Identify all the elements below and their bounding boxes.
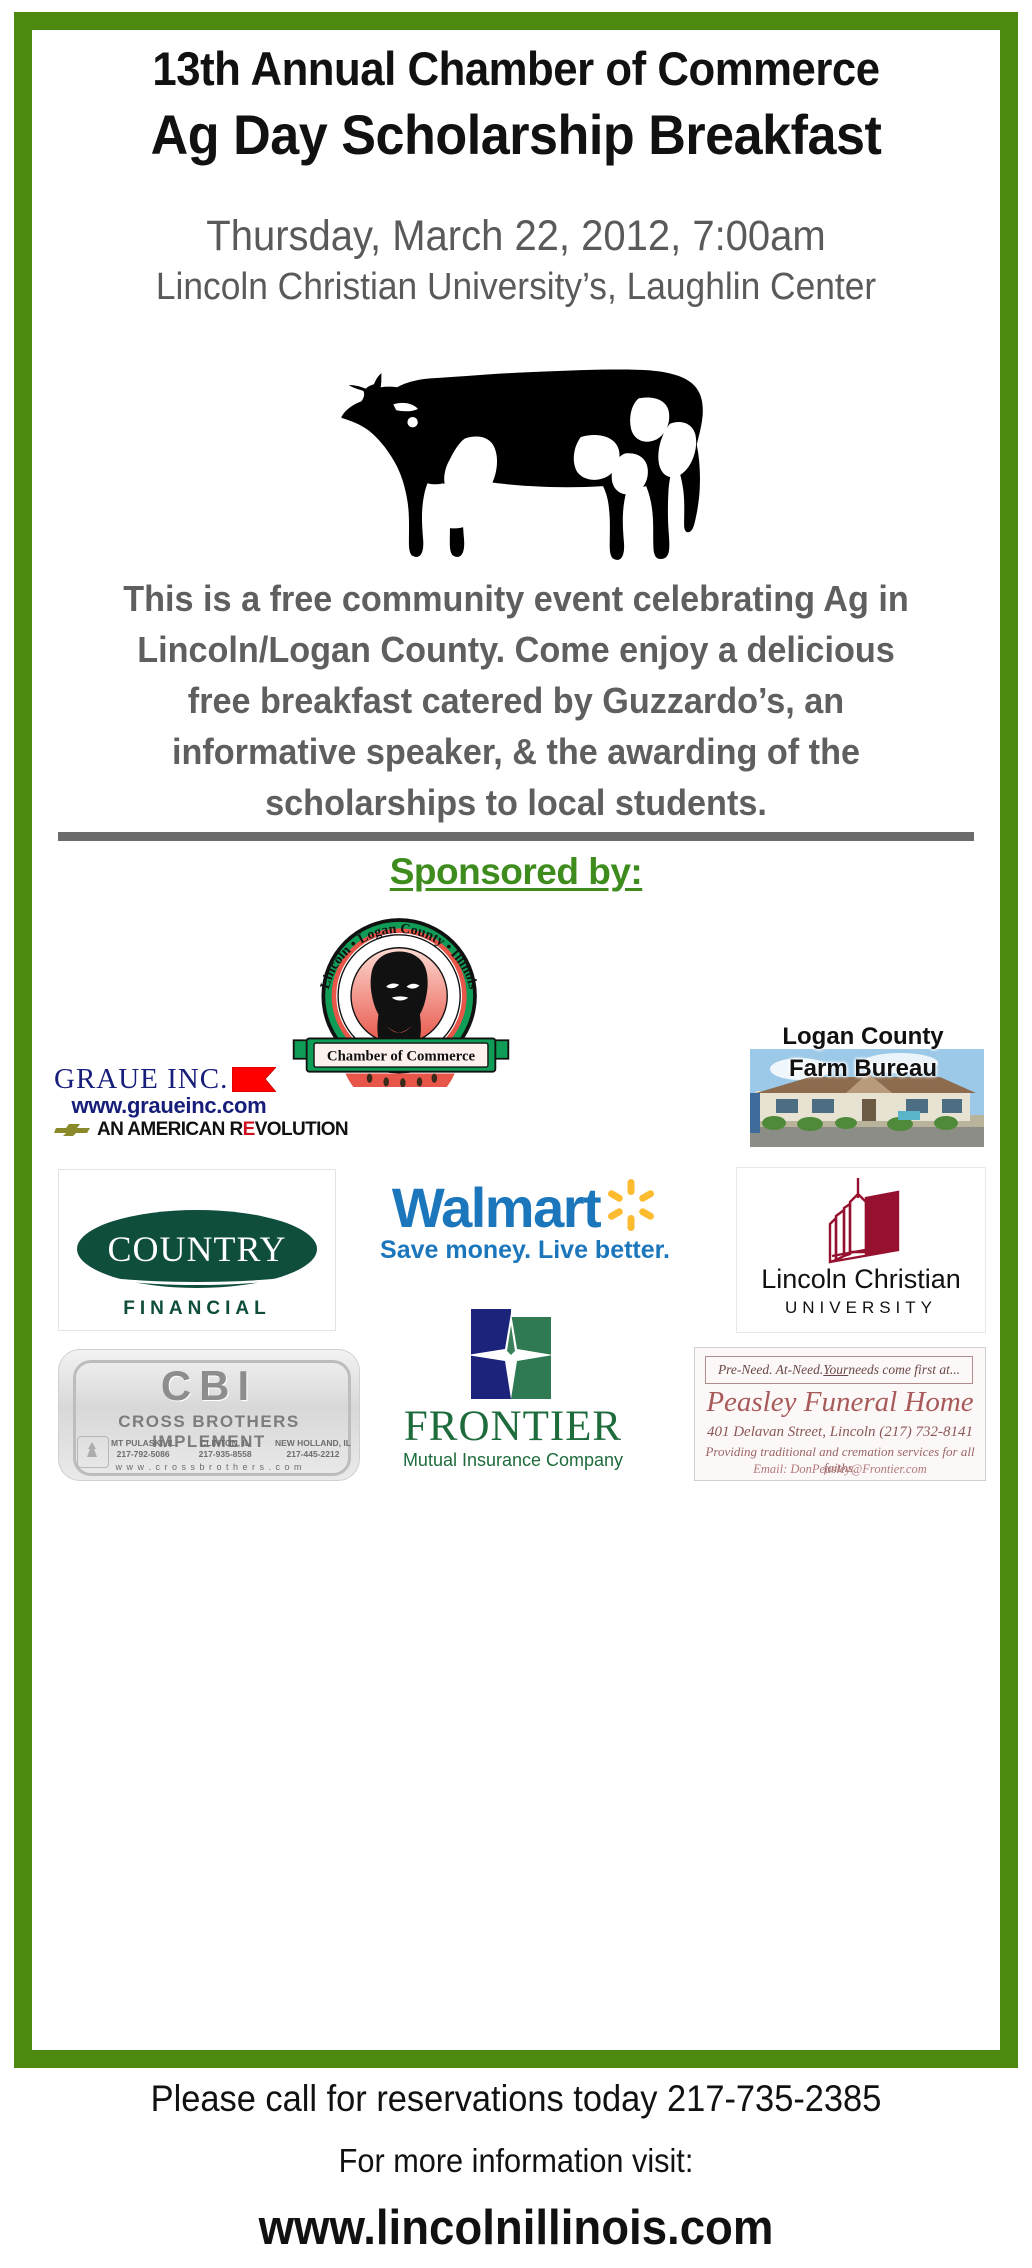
cbi-location-phone: 217-935-8558 bbox=[199, 1449, 252, 1460]
frontier-subtext: Mutual Insurance Company bbox=[384, 1450, 642, 1471]
peasley-banner-underlined: Your bbox=[823, 1362, 848, 1378]
sponsored-by-heading: Sponsored by: bbox=[54, 851, 978, 893]
peasley-banner: Pre-Need. At-Need. Your needs come first… bbox=[705, 1356, 973, 1384]
sponsor-logo-walmart: Walmart bbox=[350, 1175, 700, 1285]
peasley-email: Email: DonPeasley@Frontier.com bbox=[695, 1462, 985, 1477]
peasley-address: 401 Delavan Street, Lincoln (217) 732-81… bbox=[695, 1424, 985, 1441]
website-line[interactable]: www.lincolnillinois.com bbox=[36, 2200, 996, 2256]
farm-bureau-line-2: Farm Bureau bbox=[742, 1053, 984, 1085]
sponsor-logo-graue-inc: GRAUE INC. www.graueinc.com AN AMERIC bbox=[54, 1063, 284, 1141]
headline-line-2: Ag Day Scholarship Breakfast bbox=[86, 105, 945, 165]
cbi-location-phone: 217-792-5086 bbox=[111, 1449, 175, 1460]
cbi-location-city: MT PULASKI, IL bbox=[111, 1438, 175, 1449]
cow-illustration-wrap bbox=[54, 327, 978, 565]
sponsor-logo-chamber-of-commerce: Lincoln • Logan County • Illinois Chambe… bbox=[290, 901, 512, 1087]
cbi-location-item: CLINTON, IL 217-935-8558 bbox=[199, 1438, 252, 1460]
peasley-banner-pre: Pre-Need. At-Need. bbox=[718, 1362, 823, 1378]
chevrolet-bowtie-icon bbox=[54, 1123, 92, 1137]
frontier-wordmark: FRONTIER bbox=[384, 1405, 642, 1448]
graue-name: GRAUE INC. bbox=[54, 1063, 228, 1096]
sponsor-logo-country-financial: COUNTRY FINANCIAL bbox=[58, 1169, 336, 1331]
walmart-tagline: Save money. Live better. bbox=[350, 1236, 700, 1265]
country-financial-subtext: FINANCIAL bbox=[59, 1298, 335, 1320]
cbi-locations: MT PULASKI, IL 217-792-5086 CLINTON, IL … bbox=[111, 1438, 351, 1460]
section-divider bbox=[58, 832, 974, 841]
cbi-location-city: CLINTON, IL bbox=[199, 1438, 252, 1449]
chamber-seal-icon: Lincoln • Logan County • Illinois Chambe… bbox=[290, 901, 512, 1087]
event-venue: Lincoln Christian University’s, Laughlin… bbox=[86, 266, 945, 309]
reservations-line: Please call for reservations today 217-7… bbox=[36, 2078, 996, 2120]
chamber-banner-text: Chamber of Commerce bbox=[327, 1049, 476, 1065]
headline-line-1: 13th Annual Chamber of Commerce bbox=[86, 44, 945, 93]
cbi-location-item: MT PULASKI, IL 217-792-5086 bbox=[111, 1438, 175, 1460]
walmart-title-row: Walmart bbox=[350, 1175, 700, 1240]
more-info-line: For more information visit: bbox=[36, 2142, 996, 2180]
graue-tagline-row: AN AMERICAN REVOLUTION bbox=[54, 1119, 284, 1141]
sponsor-logo-lincoln-christian-university: Lincoln Christian UNIVERSITY bbox=[736, 1167, 986, 1333]
event-description: This is a free community event celebrati… bbox=[77, 573, 955, 829]
graue-title-row: GRAUE INC. bbox=[54, 1063, 284, 1096]
sponsor-logo-cross-brothers-implement: CBI CROSS BROTHERS IMPLEMENT MT PULASKI,… bbox=[58, 1349, 360, 1481]
graue-website: www.graueinc.com bbox=[54, 1093, 284, 1119]
lcu-name: Lincoln Christian bbox=[737, 1264, 985, 1295]
poster-footer: Please call for reservations today 217-7… bbox=[0, 2078, 1032, 2256]
walmart-spark-icon bbox=[604, 1178, 658, 1237]
sponsor-logo-peasley-funeral-home: Pre-Need. At-Need. Your needs come first… bbox=[694, 1347, 986, 1481]
peasley-name: Peasley Funeral Home bbox=[695, 1386, 985, 1419]
cbi-website: w w w . c r o s s b r o t h e r s . c o … bbox=[59, 1462, 359, 1472]
cbi-wordmark: CBI bbox=[59, 1362, 359, 1410]
country-swoosh-icon bbox=[85, 1256, 309, 1285]
graue-flag-icon bbox=[232, 1067, 276, 1092]
farm-bureau-line-1: Logan County bbox=[742, 1021, 984, 1053]
cow-icon bbox=[306, 327, 726, 565]
walmart-wordmark: Walmart bbox=[392, 1175, 600, 1240]
cbi-location-city: NEW HOLLAND, IL bbox=[275, 1438, 351, 1449]
cbi-location-item: NEW HOLLAND, IL 217-445-2212 bbox=[275, 1438, 351, 1460]
sponsor-logo-frontier-mutual-insurance: FRONTIER Mutual Insurance Company bbox=[384, 1305, 642, 1479]
graue-tagline: AN AMERICAN REVOLUTION bbox=[97, 1119, 348, 1141]
poster-root: 13th Annual Chamber of Commerce Ag Day S… bbox=[0, 0, 1032, 2268]
farm-bureau-label: Logan County Farm Bureau bbox=[742, 1021, 984, 1084]
poster-content: 13th Annual Chamber of Commerce Ag Day S… bbox=[32, 30, 1000, 2050]
event-datetime: Thursday, March 22, 2012, 7:00am bbox=[86, 212, 945, 260]
lcu-building-icon bbox=[806, 1176, 916, 1268]
lcu-subtext: UNIVERSITY bbox=[737, 1298, 985, 1318]
frontier-compass-icon bbox=[453, 1305, 573, 1403]
sponsor-logo-grid: Lincoln • Logan County • Illinois Chambe… bbox=[54, 897, 984, 1452]
sponsor-logo-logan-county-farm-bureau: Logan County Farm Bureau bbox=[742, 1023, 984, 1147]
cbi-location-phone: 217-445-2212 bbox=[275, 1449, 351, 1460]
peasley-banner-post: needs come first at... bbox=[848, 1362, 960, 1378]
